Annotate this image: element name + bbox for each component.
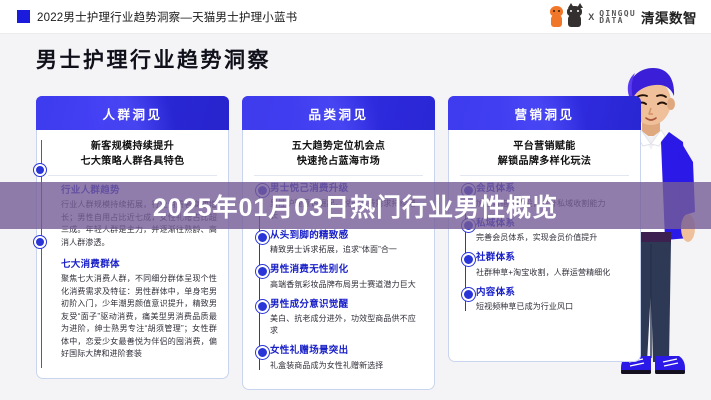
poster-canvas: 2022男士护理行业趋势洞察—天猫男士护理小蓝书 X bbox=[0, 0, 711, 400]
section-body: 聚焦七大消费人群，不同细分群体呈现个性化消费需求及特征：男性群体中，单身宅男初阶… bbox=[61, 273, 217, 361]
divider bbox=[254, 175, 423, 176]
list-item-desc: 完善会员体系，实现会员价值提升 bbox=[476, 232, 629, 244]
list-item: 从头到脚的精致感 精致男士诉求拓展，追求“体面”合一 bbox=[270, 229, 423, 257]
column-marketing-insight: 营销洞见 平台营销赋能 解锁品牌多样化玩法 会员体系 加强自指间建设，提升私域收… bbox=[448, 96, 641, 362]
column-body-category: 五大趋势定位机会点 快速抢占蓝海市场 男士悦己消费升级 男性护理意识崛起，悦己消… bbox=[242, 130, 435, 390]
column-lead-category-line1: 五大趋势定位机会点 bbox=[254, 139, 423, 154]
list-item-desc: 美白、抗老成分进外，功效型商品供不应求 bbox=[270, 313, 423, 337]
list-item: 男性成分意识觉醒 美白、抗老成分进外，功效型商品供不应求 bbox=[270, 298, 423, 338]
column-audience-insight: 人群洞见 新客规模持续提升 七大策略人群各具特色 行业人群趋势 行业人群规模持续… bbox=[36, 96, 229, 379]
partner-logo-group: X QINGQU DATA 清渠数智 bbox=[548, 6, 697, 27]
list-item-title: 男性消费无性别化 bbox=[270, 263, 423, 276]
column-header-audience-label: 人群洞见 bbox=[102, 104, 162, 123]
list-item: 内容体系 短视频种草已成为行业风口 bbox=[476, 286, 629, 314]
divider bbox=[460, 175, 629, 176]
overlay-band: 2025年01月03日热门行业男性概览 bbox=[0, 182, 711, 229]
column-lead-audience: 新客规模持续提升 七大策略人群各具特色 bbox=[48, 139, 217, 169]
mascot-black-cat-icon bbox=[566, 6, 583, 27]
list-item-title: 男性成分意识觉醒 bbox=[270, 298, 423, 311]
mascot-icons bbox=[548, 6, 583, 27]
list-item: 男性消费无性别化 高端香氛彩妆品牌布局男士赛道潜力巨大 bbox=[270, 263, 423, 291]
list-item-desc: 社群种草+淘宝收割，人群运营精细化 bbox=[476, 267, 629, 279]
qingqu-wordmark: QINGQU DATA bbox=[599, 10, 636, 24]
list-item-desc: 高端香氛彩妆品牌布局男士赛道潜力巨大 bbox=[270, 279, 423, 291]
qingqu-chinese-name: 清渠数智 bbox=[641, 7, 697, 27]
list-item-desc: 精致男士诉求拓展，追求“体面”合一 bbox=[270, 244, 423, 256]
overlay-headline: 2025年01月03日热门行业男性概览 bbox=[153, 188, 558, 224]
insight-columns: 人群洞见 新客规模持续提升 七大策略人群各具特色 行业人群趋势 行业人群规模持续… bbox=[0, 96, 711, 378]
column-body-audience: 新客规模持续提升 七大策略人群各具特色 行业人群趋势 行业人群规模持续拓展，行业… bbox=[36, 130, 229, 379]
logo-x-separator: X bbox=[588, 12, 594, 22]
page-title: 男士护理行业趋势洞察 bbox=[36, 44, 271, 74]
column-lead-marketing-line1: 平台营销赋能 bbox=[460, 139, 629, 154]
brand-square-icon bbox=[17, 10, 30, 23]
list-item-title: 社群体系 bbox=[476, 251, 629, 264]
list-item-title: 女性礼赠场景突出 bbox=[270, 344, 423, 357]
timeline-dot bbox=[34, 164, 46, 176]
list-item: 女性礼赠场景突出 礼盒装商品成为女性礼赠新选择 bbox=[270, 344, 423, 372]
column-lead-audience-line2: 七大策略人群各具特色 bbox=[48, 154, 217, 169]
column-lead-category-line2: 快速抢占蓝海市场 bbox=[254, 154, 423, 169]
column-header-marketing: 营销洞见 bbox=[448, 96, 641, 130]
mascot-orange-icon bbox=[548, 6, 565, 27]
column-lead-marketing-line2: 解锁品牌多样化玩法 bbox=[460, 154, 629, 169]
list-item-title: 内容体系 bbox=[476, 286, 629, 299]
timeline-dot bbox=[34, 236, 46, 248]
column-lead-audience-line1: 新客规模持续提升 bbox=[48, 139, 217, 154]
list-item-desc: 礼盒装商品成为女性礼赠新选择 bbox=[270, 360, 423, 372]
list-item: 社群体系 社群种草+淘宝收割，人群运营精细化 bbox=[476, 251, 629, 279]
qingqu-wordmark-line2: DATA bbox=[599, 17, 636, 24]
column-header-category-label: 品类洞见 bbox=[308, 104, 368, 123]
column-lead-marketing: 平台营销赋能 解锁品牌多样化玩法 bbox=[460, 139, 629, 169]
section-title: 七大消费群体 bbox=[61, 256, 217, 270]
column-category-insight: 品类洞见 五大趋势定位机会点 快速抢占蓝海市场 男士悦己消费升级 男性护理意识崛… bbox=[242, 96, 435, 390]
column-lead-category: 五大趋势定位机会点 快速抢占蓝海市场 bbox=[254, 139, 423, 169]
column-header-audience: 人群洞见 bbox=[36, 96, 229, 130]
divider bbox=[48, 175, 217, 176]
list-item-desc: 短视频种草已成为行业风口 bbox=[476, 301, 629, 313]
column-header-marketing-label: 营销洞见 bbox=[514, 104, 574, 123]
report-title: 2022男士护理行业趋势洞察—天猫男士护理小蓝书 bbox=[37, 9, 297, 25]
section-seven-groups: 七大消费群体 聚焦七大消费人群，不同细分群体呈现个性化消费需求及特征：男性群体中… bbox=[61, 256, 217, 361]
column-header-category: 品类洞见 bbox=[242, 96, 435, 130]
top-bar: 2022男士护理行业趋势洞察—天猫男士护理小蓝书 X bbox=[0, 0, 711, 34]
list-item-title: 从头到脚的精致感 bbox=[270, 229, 423, 242]
column-body-marketing: 平台营销赋能 解锁品牌多样化玩法 会员体系 加强自指间建设，提升私域收割能力 私… bbox=[448, 130, 641, 362]
